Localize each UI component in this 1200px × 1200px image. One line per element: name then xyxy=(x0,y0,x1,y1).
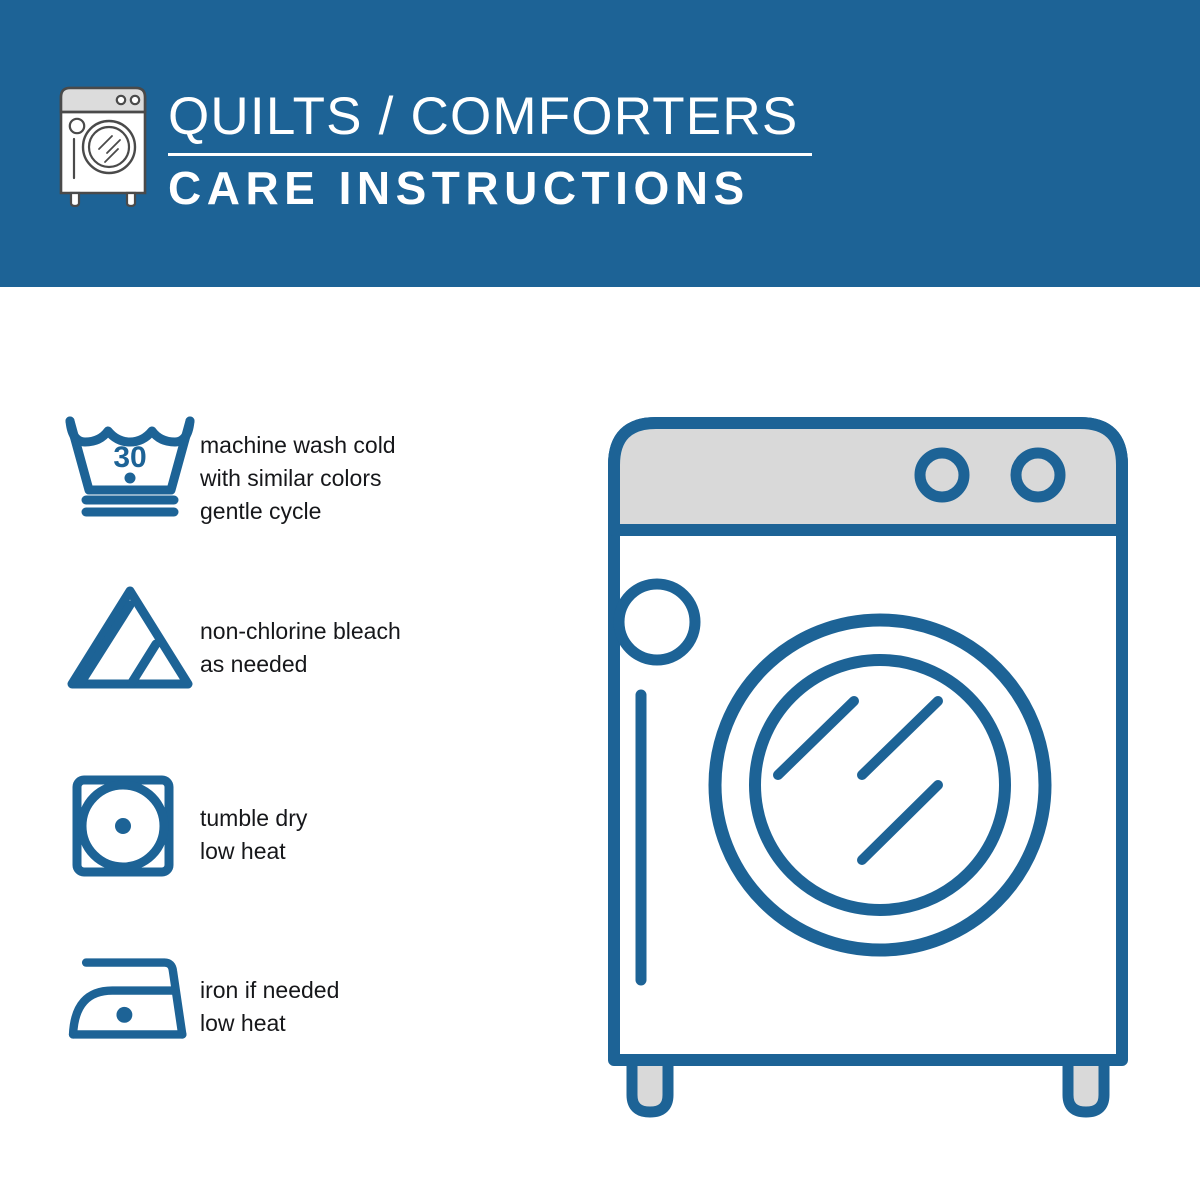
machine-door-inner xyxy=(755,660,1005,910)
machine-knob xyxy=(1016,453,1060,497)
machine-knob xyxy=(920,453,964,497)
care-line: low heat xyxy=(200,1007,530,1040)
care-row-wash: 30 machine wash cold with similar colors… xyxy=(60,412,530,528)
iron-low-heat-icon xyxy=(60,952,200,1046)
header-title-group: QUILTS / COMFORTERS CARE INSTRUCTIONS xyxy=(168,88,868,214)
care-line: non-chlorine bleach xyxy=(200,615,530,648)
care-row-tumble-dry: tumble dry low heat xyxy=(60,774,530,878)
wash-tub-30-gentle-icon: 30 xyxy=(60,412,200,520)
care-line: as needed xyxy=(200,648,530,681)
page-title: QUILTS / COMFORTERS xyxy=(168,88,868,146)
care-instructions-infographic: QUILTS / COMFORTERS CARE INSTRUCTIONS 30 xyxy=(0,0,1200,1200)
care-line: with similar colors xyxy=(200,462,530,495)
care-row-iron: iron if needed low heat xyxy=(60,952,530,1046)
machine-dial xyxy=(619,584,695,660)
care-line: iron if needed xyxy=(200,974,530,1007)
care-line: tumble dry xyxy=(200,802,530,835)
care-row-bleach: non-chlorine bleach as needed xyxy=(60,583,530,693)
washing-machine-icon xyxy=(55,83,151,207)
care-instruction-list: 30 machine wash cold with similar colors… xyxy=(0,287,560,1200)
title-divider xyxy=(168,153,812,156)
non-chlorine-bleach-triangle-icon xyxy=(60,583,200,693)
care-line: gentle cycle xyxy=(200,495,530,528)
care-line: machine wash cold xyxy=(200,429,530,462)
care-text-iron: iron if needed low heat xyxy=(200,952,530,1040)
page-subtitle: CARE INSTRUCTIONS xyxy=(168,162,868,214)
care-line: low heat xyxy=(200,835,530,868)
care-text-bleach: non-chlorine bleach as needed xyxy=(200,583,530,681)
care-text-tumble-dry: tumble dry low heat xyxy=(200,774,530,868)
tumble-dry-low-icon xyxy=(60,774,200,878)
wash-temperature-label: 30 xyxy=(113,441,146,474)
washing-machine-large-icon xyxy=(590,395,1160,1125)
header-banner: QUILTS / COMFORTERS CARE INSTRUCTIONS xyxy=(0,0,1200,287)
care-text-wash: machine wash cold with similar colors ge… xyxy=(200,412,530,528)
